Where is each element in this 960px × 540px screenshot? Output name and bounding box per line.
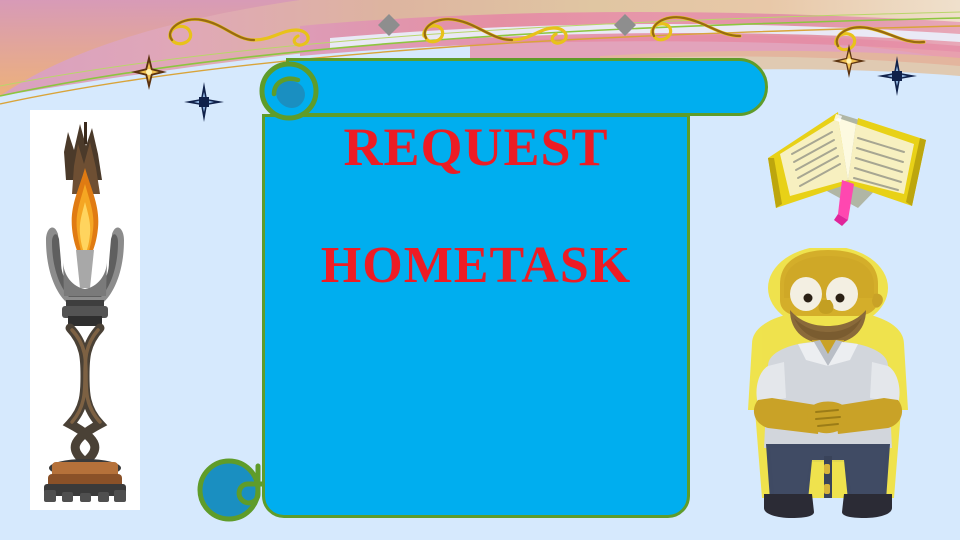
scroll-curl-top-left	[258, 60, 320, 122]
sparkle-navy-icon	[182, 80, 226, 129]
open-book-image	[762, 88, 932, 228]
slide-canvas: REQUEST HOMETASK	[0, 0, 960, 540]
scroll-curl-bottom-left	[196, 454, 274, 524]
scroll-top-bar	[286, 58, 768, 116]
sparkle-gold-icon	[129, 52, 169, 97]
headline-line-2: HOMETASK	[262, 240, 690, 292]
headline-spacer	[262, 174, 690, 240]
headline-line-1: REQUEST	[262, 120, 690, 174]
headline-block: REQUEST HOMETASK	[262, 120, 690, 292]
homer-simpson-image	[728, 248, 928, 520]
torch-image	[30, 110, 140, 510]
diamond-ornament	[378, 14, 636, 36]
sparkle-gold-icon	[830, 42, 868, 85]
